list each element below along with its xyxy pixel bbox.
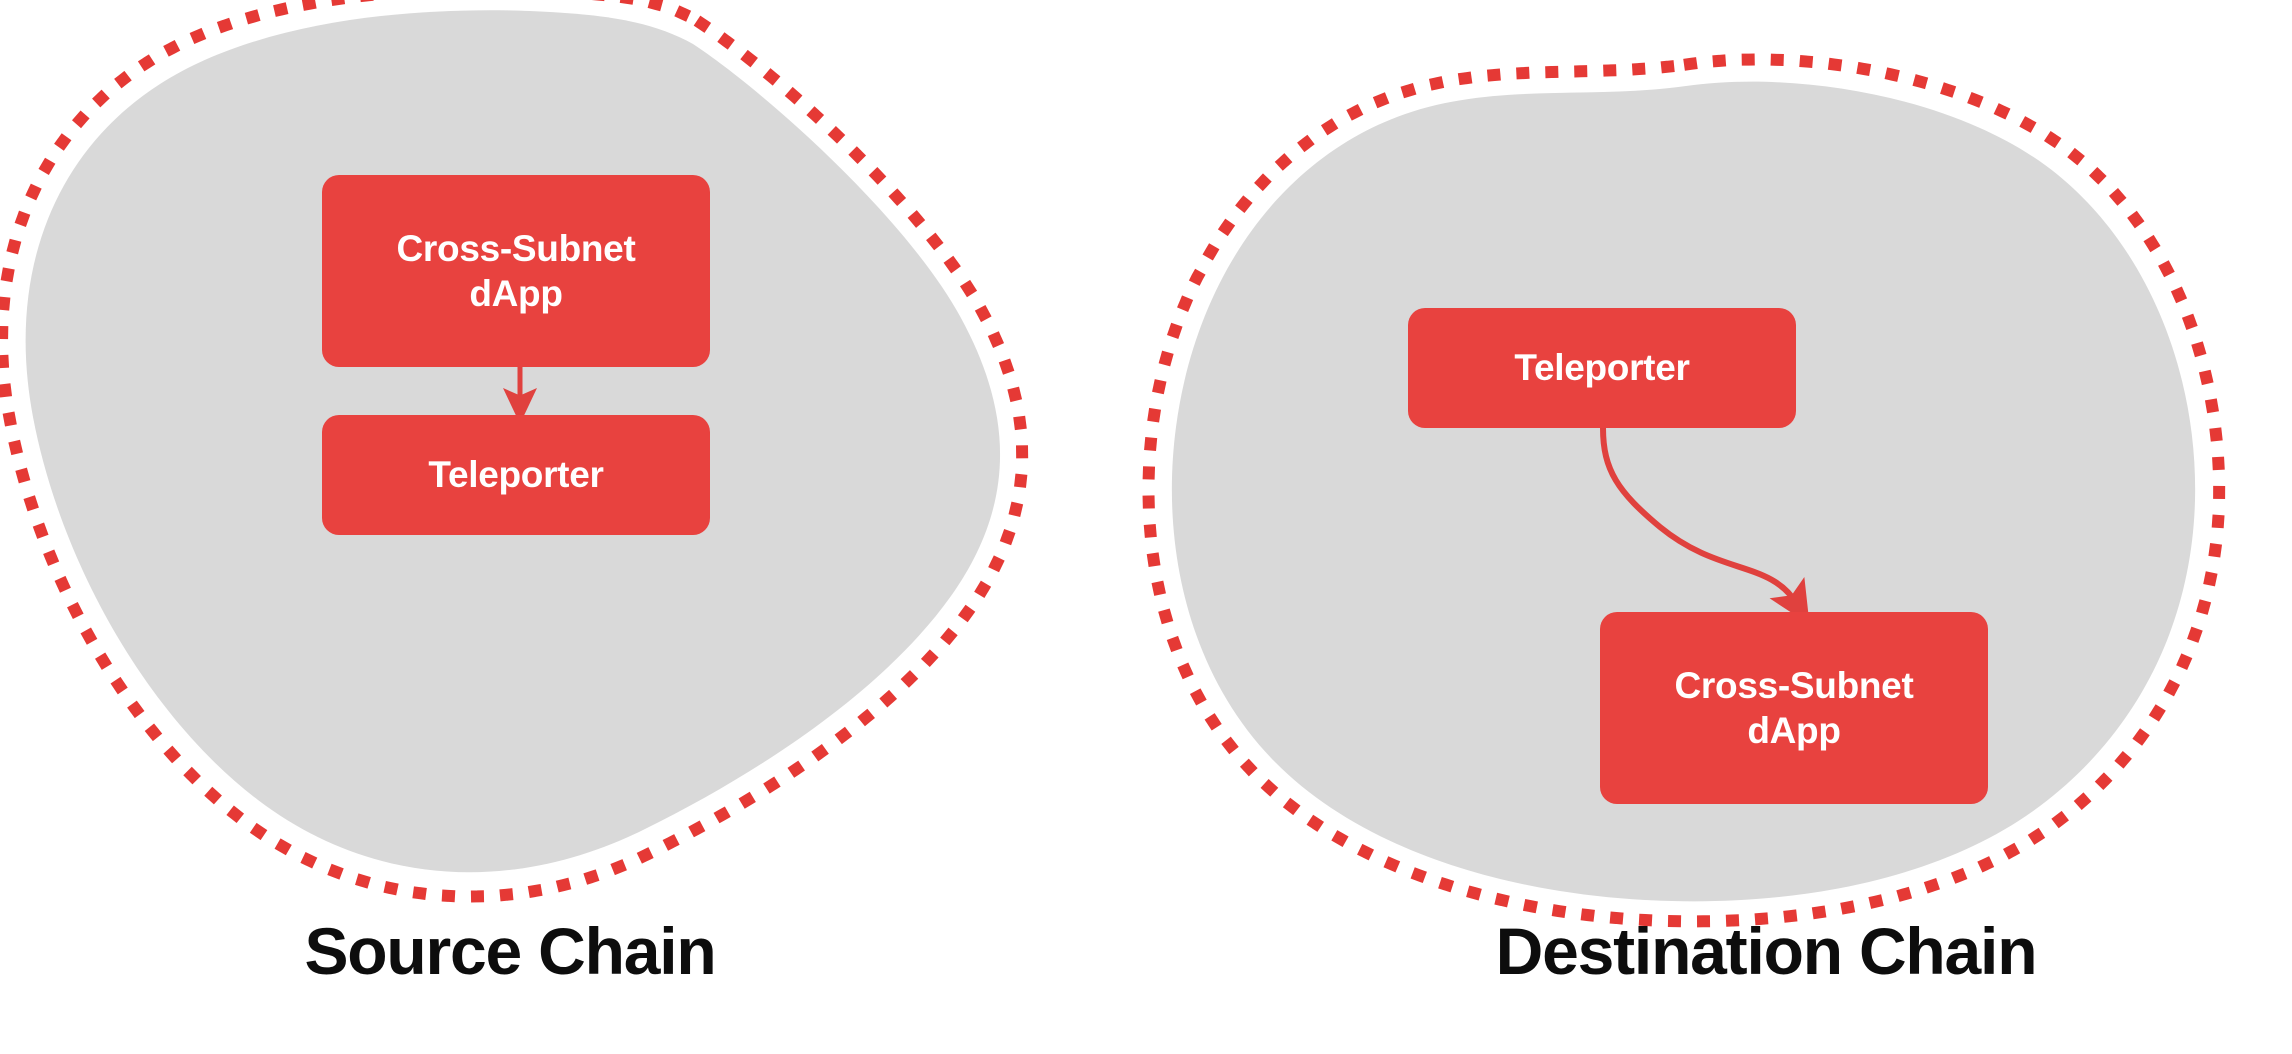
node-destination-cross-subnet-dapp[interactable]: Cross-Subnet dApp: [1600, 612, 1988, 804]
diagram-canvas: Cross-Subnet dApp Teleporter Teleporter …: [0, 0, 2292, 1054]
destination-flow-arrow: [1603, 428, 1797, 604]
caption-destination-chain: Destination Chain: [1240, 913, 2292, 989]
node-destination-teleporter[interactable]: Teleporter: [1408, 308, 1796, 428]
node-source-teleporter[interactable]: Teleporter: [322, 415, 710, 535]
caption-source-chain: Source Chain: [0, 913, 1020, 989]
node-source-cross-subnet-dapp[interactable]: Cross-Subnet dApp: [322, 175, 710, 367]
